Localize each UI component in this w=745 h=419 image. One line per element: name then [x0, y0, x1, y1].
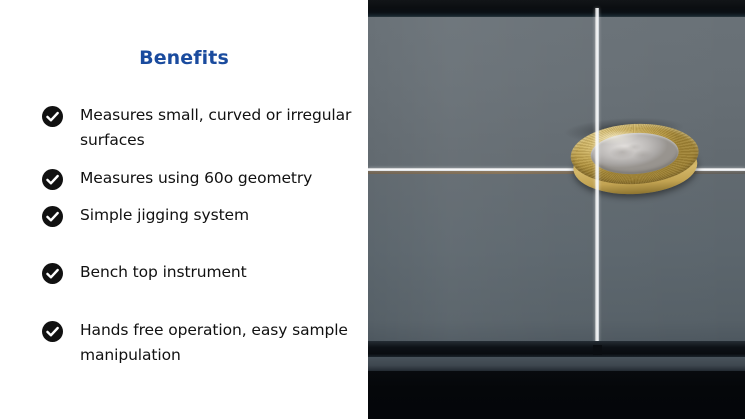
list-item: Simple jigging system	[42, 203, 352, 228]
product-photo	[368, 0, 745, 419]
check-circle-icon	[42, 263, 63, 284]
list-item: Measures small, curved or irregular surf…	[42, 103, 352, 153]
list-item: Hands free operation, easy sample manipu…	[42, 318, 352, 368]
stage-lower-edge-upper	[368, 341, 745, 357]
list-item-label: Measures using 60o geometry	[80, 166, 352, 191]
stage-bottom-edge	[368, 371, 745, 419]
list-item: Bench top instrument	[42, 260, 352, 285]
benefits-slide: Benefits Measures small, curved or irreg…	[0, 0, 745, 419]
check-circle-icon	[42, 106, 63, 127]
euro-coin	[569, 121, 701, 200]
stage-top-edge	[368, 0, 745, 17]
crosshair-vertical-line	[595, 8, 599, 376]
page-title: Benefits	[0, 47, 368, 69]
crosshair-vertical-gap	[593, 345, 602, 355]
stage-lower-face	[368, 357, 745, 371]
check-circle-icon	[42, 206, 63, 227]
list-item-label: Hands free operation, easy sample manipu…	[80, 318, 352, 368]
benefits-list: Measures small, curved or irregular surf…	[42, 103, 352, 368]
left-content-panel: Benefits Measures small, curved or irreg…	[0, 0, 368, 419]
list-item-label: Simple jigging system	[80, 203, 352, 228]
list-item-label: Measures small, curved or irregular surf…	[80, 103, 352, 153]
list-item-label: Bench top instrument	[80, 260, 352, 285]
check-circle-icon	[42, 169, 63, 190]
check-circle-icon	[42, 321, 63, 342]
list-item: Measures using 60o geometry	[42, 166, 352, 191]
